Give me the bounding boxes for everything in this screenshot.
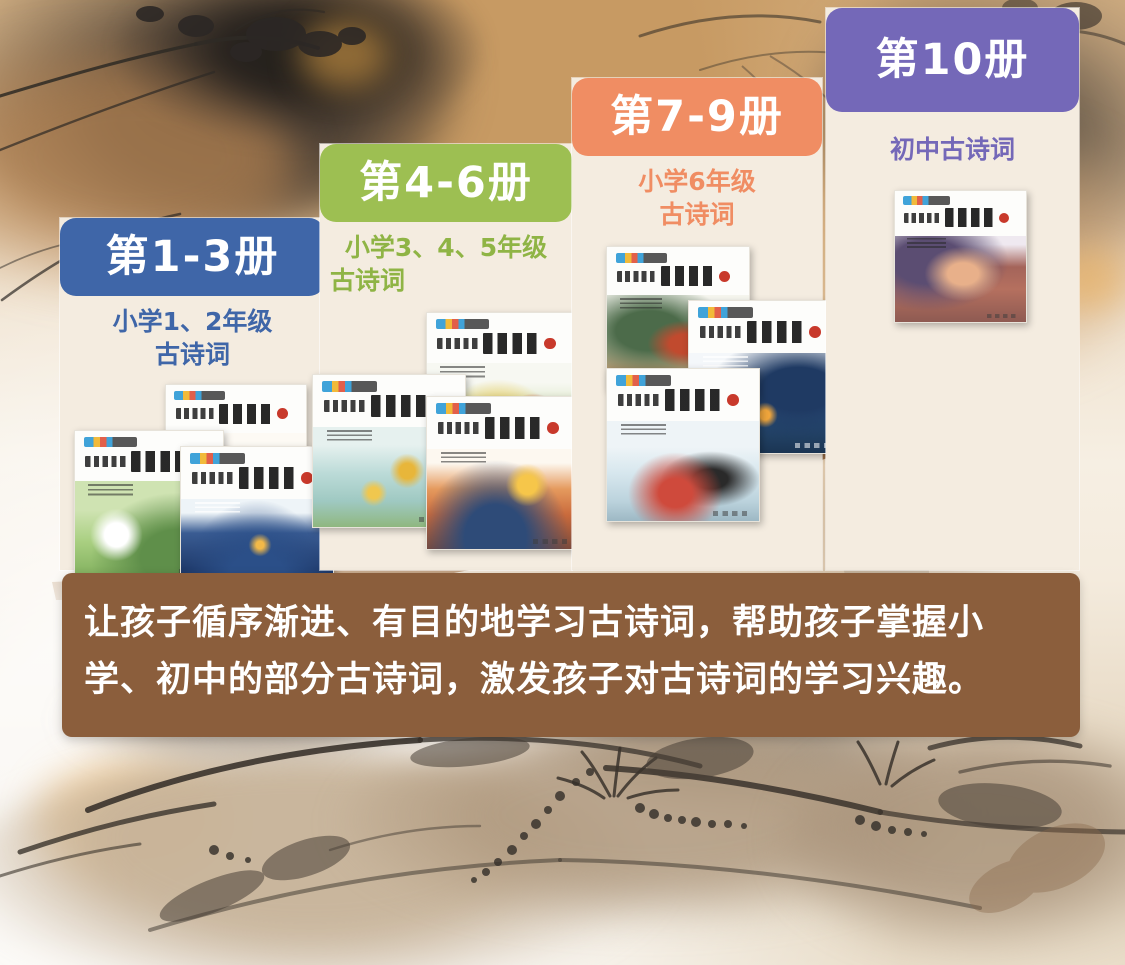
stage-card-4[interactable]: 第10册 初中古诗词 — [826, 8, 1079, 570]
publisher-mark — [987, 314, 1018, 319]
promo-poster: 第1-3册 小学1、2年级 古诗词 — [0, 0, 1125, 965]
book-cover[interactable] — [426, 396, 580, 550]
volume-badge — [809, 326, 821, 338]
stage-3-subtitle-line2: 古诗词 — [572, 199, 822, 232]
book-cover[interactable] — [606, 368, 760, 522]
title-chars-b — [661, 266, 717, 286]
title-chars-b — [665, 389, 725, 411]
title-chars-b — [485, 417, 545, 439]
publisher-logo-icon — [698, 307, 753, 318]
publisher-logo-icon — [174, 391, 224, 401]
title-chars-b — [371, 395, 431, 417]
publisher-logo-icon — [436, 319, 489, 329]
publisher-logo-icon — [903, 196, 950, 205]
volume-badge — [727, 394, 739, 406]
title-chars-b — [239, 467, 299, 489]
title-chars-a — [324, 400, 368, 412]
publisher-logo-icon — [322, 381, 377, 392]
title-chars-b — [219, 404, 274, 424]
book-series-title — [904, 208, 1017, 228]
book-series-title — [176, 403, 296, 424]
publisher-logo-icon — [616, 253, 667, 263]
publisher-mark — [713, 511, 749, 516]
title-chars-b — [483, 333, 542, 354]
title-chars-a — [176, 408, 217, 419]
book-series-title — [437, 332, 564, 354]
volume-badge — [999, 213, 1009, 223]
title-chars-b — [945, 208, 997, 227]
description-line-1: 让孩子循序渐进、有目的地学习古诗词，帮助孩子掌握小 — [84, 595, 1052, 652]
stage-4-header-label: 第10册 — [876, 39, 1030, 82]
volume-badge — [719, 271, 730, 282]
title-chars-b — [747, 321, 807, 343]
stage-1-subtitle-line2: 古诗词 — [60, 339, 325, 372]
stage-1-header: 第1-3册 — [60, 218, 325, 296]
book-series-title — [617, 265, 739, 286]
stage-2-header: 第4-6册 — [320, 144, 572, 222]
stage-card-1[interactable]: 第1-3册 小学1、2年级 古诗词 — [60, 218, 325, 570]
cover-caption-lines — [441, 452, 487, 466]
stage-4-header: 第10册 — [826, 8, 1079, 112]
description-line-2: 学、初中的部分古诗词，激发孩子对古诗词的学习兴趣。 — [84, 652, 1052, 709]
book-series-title — [700, 321, 831, 344]
book-series-title — [438, 417, 569, 440]
publisher-logo-icon — [190, 453, 245, 464]
cover-caption-lines — [907, 238, 946, 250]
title-chars-a — [437, 338, 480, 350]
cover-caption-lines — [621, 424, 667, 438]
cover-caption-lines — [195, 502, 241, 516]
stage-1-subtitle: 小学1、2年级 古诗词 — [60, 306, 325, 371]
stage-3-subtitle: 小学6年级 古诗词 — [572, 166, 822, 231]
volume-badge — [277, 408, 288, 419]
title-chars-a — [617, 271, 659, 282]
title-chars-a — [904, 213, 942, 223]
stage-2-header-label: 第4-6册 — [359, 162, 533, 205]
cover-caption-lines — [620, 298, 663, 311]
stage-3-header-label: 第7-9册 — [610, 96, 784, 139]
publisher-logo-icon — [436, 403, 491, 414]
stage-3-header: 第7-9册 — [572, 78, 822, 156]
title-chars-a — [85, 456, 128, 468]
stage-1-header-label: 第1-3册 — [106, 236, 280, 279]
description-text: 让孩子循序渐进、有目的地学习古诗词，帮助孩子掌握小 学、初中的部分古诗词，激发孩… — [62, 573, 1080, 708]
publisher-logo-icon — [84, 437, 137, 447]
cover-caption-lines — [327, 430, 373, 444]
volume-badge — [547, 422, 559, 434]
publisher-mark — [533, 539, 569, 544]
stage-4-subtitle-line1: 初中古诗词 — [826, 134, 1079, 167]
publisher-logo-icon — [616, 375, 671, 386]
book-series-title — [618, 389, 749, 412]
title-chars-a — [438, 422, 482, 434]
cover-caption-lines — [88, 484, 132, 497]
stage-2-subtitle: 小学3、4、5年级 古诗词 — [320, 232, 572, 297]
book-cover[interactable] — [894, 190, 1027, 323]
stage-1-subtitle-line1: 小学1、2年级 — [60, 306, 325, 339]
stage-card-2[interactable]: 第4-6册 小学3、4、5年级 古诗词 — [320, 144, 572, 570]
title-chars-a — [618, 394, 662, 406]
stage-2-subtitle-line1: 小学3、4、5年级 — [320, 232, 572, 265]
title-chars-a — [700, 326, 744, 338]
stage-card-3[interactable]: 第7-9册 小学6年级 古诗词 — [572, 78, 822, 570]
title-chars-a — [192, 472, 236, 484]
volume-badge — [544, 338, 555, 349]
book-series-title — [192, 467, 323, 490]
description-banner: 让孩子循序渐进、有目的地学习古诗词，帮助孩子掌握小 学、初中的部分古诗词，激发孩… — [62, 573, 1080, 737]
stage-3-subtitle-line1: 小学6年级 — [572, 166, 822, 199]
stage-2-subtitle-line2: 古诗词 — [320, 265, 572, 298]
stage-4-subtitle: 初中古诗词 — [826, 134, 1079, 167]
